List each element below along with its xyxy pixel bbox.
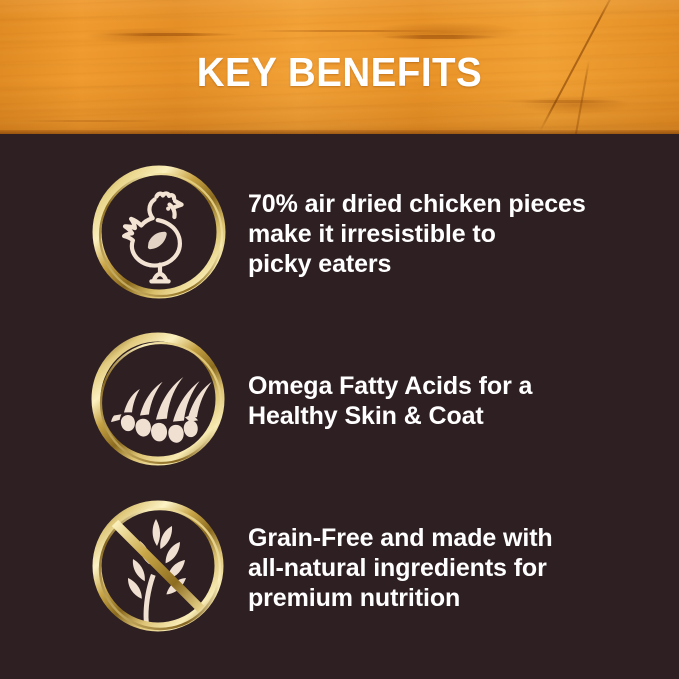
no-grain-wheat-icon bbox=[88, 497, 230, 639]
wood-streak bbox=[500, 100, 630, 103]
benefit-text: Omega Fatty Acids for a Healthy Skin & C… bbox=[248, 371, 532, 431]
band-bottom-shadow bbox=[0, 130, 679, 134]
wood-knot bbox=[520, 96, 630, 114]
wood-knot bbox=[370, 22, 520, 42]
wood-streak bbox=[100, 33, 240, 36]
chicken-icon bbox=[88, 163, 230, 305]
benefit-row: 70% air dried chicken pieces make it irr… bbox=[88, 163, 586, 305]
benefit-text: 70% air dried chicken pieces make it irr… bbox=[248, 189, 586, 279]
header-band: KEY BENEFITS bbox=[0, 0, 679, 134]
wood-streak bbox=[12, 120, 172, 122]
hair-follicles-icon bbox=[88, 330, 230, 472]
benefit-row: Grain-Free and made with all-natural ing… bbox=[88, 497, 553, 639]
benefit-row: Omega Fatty Acids for a Healthy Skin & C… bbox=[88, 330, 532, 472]
wood-streak bbox=[380, 35, 500, 39]
page-title: KEY BENEFITS bbox=[20, 49, 658, 96]
key-benefits-panel: KEY BENEFITS bbox=[0, 0, 679, 679]
benefit-text: Grain-Free and made with all-natural ing… bbox=[248, 523, 553, 613]
wood-knot bbox=[86, 28, 206, 44]
wood-streak bbox=[240, 30, 460, 32]
